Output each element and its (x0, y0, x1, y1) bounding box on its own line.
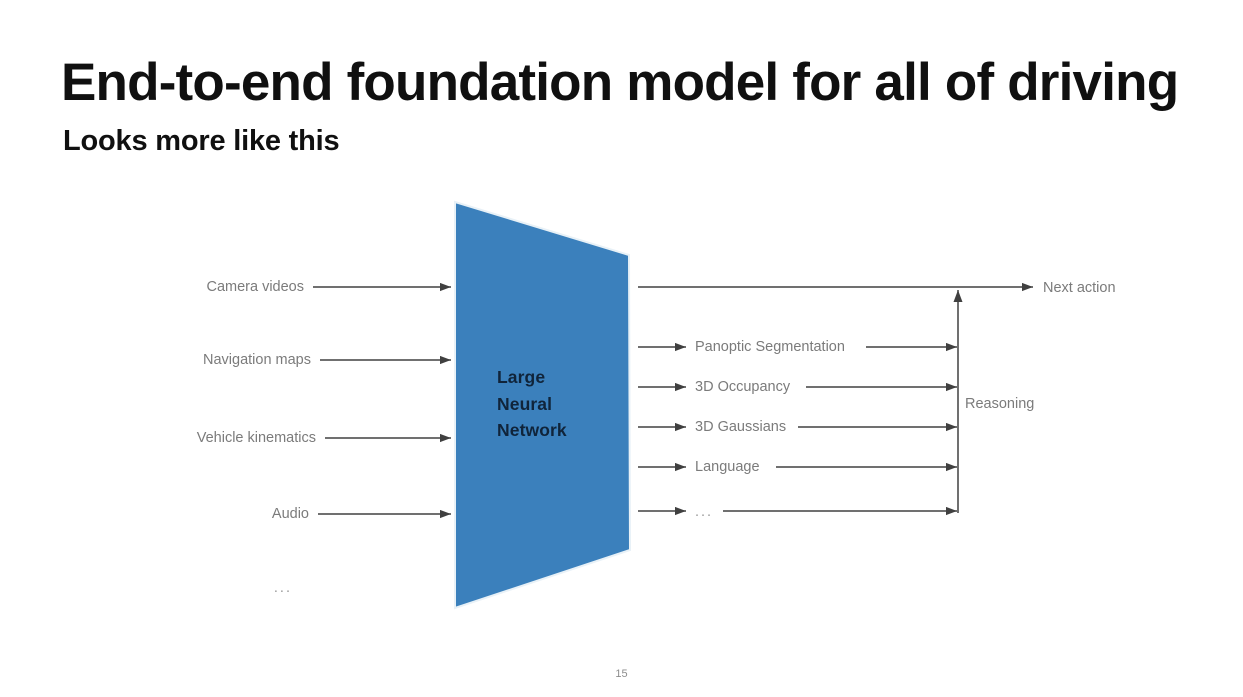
neural-network-label-line-2: Neural (497, 391, 567, 418)
output-label-language: Language (695, 460, 760, 475)
architecture-diagram: Camera videos Navigation maps Vehicle ki… (0, 0, 1243, 697)
output-label-ellipsis: ... (695, 505, 713, 520)
slide-canvas: End-to-end foundation model for all of d… (0, 0, 1243, 697)
output-label-3d-gaussians: 3D Gaussians (695, 420, 786, 435)
input-label-navigation-maps: Navigation maps (111, 353, 311, 368)
reasoning-label: Reasoning (965, 397, 1034, 412)
neural-network-label-line-3: Network (497, 417, 567, 444)
neural-network-label-line-1: Large (497, 364, 567, 391)
neural-network-label: Large Neural Network (497, 364, 567, 444)
input-label-ellipsis: ... (182, 581, 292, 596)
input-label-vehicle-kinematics: Vehicle kinematics (116, 431, 316, 446)
input-label-camera-videos: Camera videos (104, 280, 304, 295)
page-number: 15 (0, 668, 1243, 680)
next-action-label: Next action (1043, 281, 1116, 296)
output-label-3d-occupancy: 3D Occupancy (695, 380, 790, 395)
output-label-panoptic-segmentation: Panoptic Segmentation (695, 340, 845, 355)
input-label-audio: Audio (109, 507, 309, 522)
